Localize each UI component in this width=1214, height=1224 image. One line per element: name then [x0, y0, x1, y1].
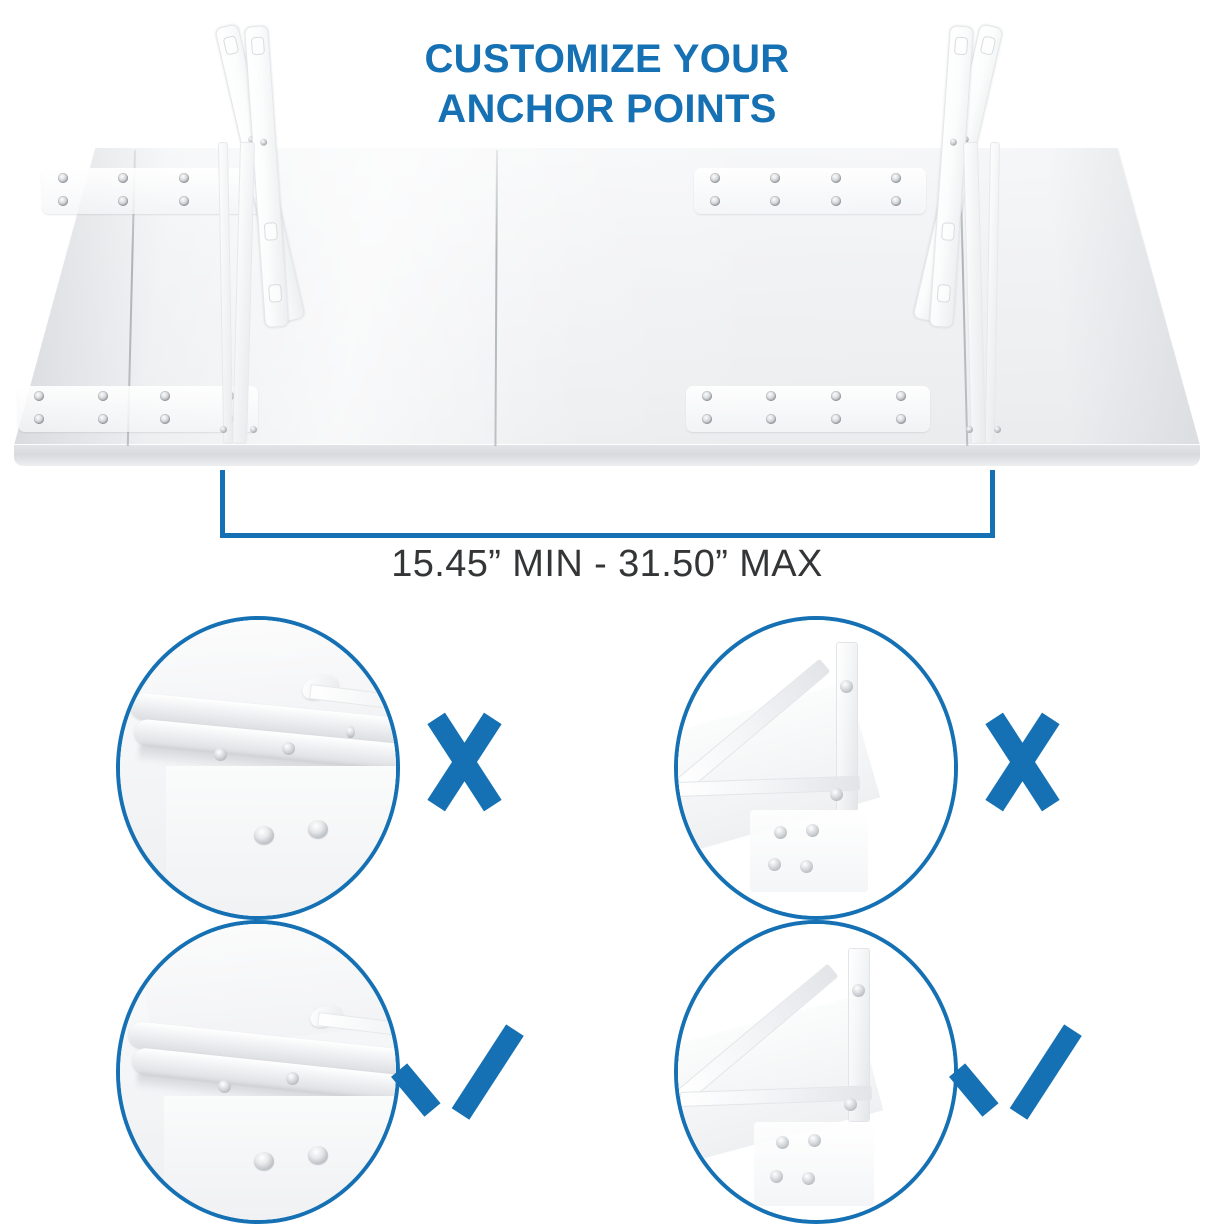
- left-folding-bracket: [206, 22, 316, 462]
- verdict-bottom-left: [410, 1016, 530, 1126]
- check-icon: [978, 1018, 1076, 1110]
- circle-frame-top-right: [674, 616, 958, 920]
- screw-hole: [118, 196, 128, 206]
- scene-plate-bolt-4: [802, 1172, 815, 1185]
- right-bracket-rail-inner: [963, 142, 986, 444]
- scene-plate-bolt-3: [768, 858, 781, 871]
- screw-hole: [702, 414, 712, 424]
- right-bracket-rail-outer: [985, 142, 1000, 444]
- scene-screw-hole-left: [254, 826, 274, 844]
- screw-hole: [766, 414, 776, 424]
- screw-hole: [770, 173, 780, 183]
- shelf-board: [14, 148, 1200, 466]
- scene-screw-hole-right: [308, 820, 328, 838]
- scene-lip-bolt-b: [282, 742, 295, 755]
- left-bracket-rail-outer: [218, 142, 233, 444]
- shelf-edge-photo-incorrect: [116, 616, 400, 920]
- scene-screw-hole-right: [308, 1146, 328, 1164]
- comparison-cell-bottom-left: [110, 920, 610, 1220]
- hero-product-image: [0, 0, 1214, 600]
- screw-hole: [702, 391, 712, 401]
- right-folding-bracket: [900, 22, 1010, 462]
- screw-hole: [710, 173, 720, 183]
- right-bracket-foot-bolt-a: [966, 426, 973, 433]
- mounting-plate-upper-right: [694, 168, 926, 214]
- comparison-grid: [0, 608, 1214, 1214]
- scene-lower-wall: [166, 766, 400, 920]
- comparison-cell-bottom-right: [668, 920, 1168, 1220]
- screw-hole: [98, 414, 108, 424]
- screw-hole: [160, 414, 170, 424]
- scene-plate-bolt-2: [808, 1134, 821, 1147]
- bracket-mount-photo-incorrect: [674, 616, 958, 920]
- screw-hole: [98, 391, 108, 401]
- left-bracket-inner-slot-mid: [264, 222, 278, 241]
- scene-bracket-bolt-bottom: [844, 1098, 857, 1111]
- scene-bracket-bolt-bottom: [830, 788, 843, 801]
- mounting-plate-lower-right: [686, 386, 930, 432]
- screw-hole: [831, 196, 841, 206]
- scene-bracket-bolt-top: [852, 984, 865, 997]
- circle-frame-bottom-left: [116, 920, 400, 1224]
- screw-hole: [710, 196, 720, 206]
- shelf-right-bevel: [1010, 148, 1200, 445]
- screw-hole: [179, 173, 189, 183]
- verdict-top-left: [410, 712, 530, 822]
- screw-hole: [831, 414, 841, 424]
- bracket-mount-photo-correct: [674, 920, 958, 1224]
- comparison-cell-top-right: [668, 616, 1168, 916]
- right-bracket-inner-slot-top: [954, 37, 968, 56]
- screw-hole: [831, 173, 841, 183]
- screw-hole: [179, 196, 189, 206]
- screw-hole: [770, 196, 780, 206]
- scene-bracket-bolt-top: [840, 680, 853, 693]
- x-icon: [982, 716, 1066, 808]
- right-bracket-foot-bolt-b: [994, 426, 1001, 433]
- left-bracket-inner-slot-bottom: [268, 284, 282, 303]
- circle-frame-bottom-right: [674, 920, 958, 1224]
- scene-plate-bolt-3: [770, 1170, 783, 1183]
- right-bracket-inner-slot-bottom: [937, 284, 951, 303]
- screw-hole: [34, 414, 44, 424]
- scene-plate-bolt-2: [806, 824, 819, 837]
- right-bracket-slot-top: [980, 35, 997, 55]
- left-bracket-inner-pivot: [260, 139, 267, 146]
- verdict-top-right: [968, 712, 1088, 822]
- screw-hole: [831, 391, 841, 401]
- screw-hole: [34, 391, 44, 401]
- left-bracket-inner-slot-top: [251, 36, 265, 55]
- right-bracket-inner-slot-mid: [941, 222, 955, 241]
- left-bracket-rail-inner: [232, 142, 255, 444]
- circle-frame-top-left: [116, 616, 400, 920]
- comparison-cell-top-left: [110, 616, 610, 916]
- scene-lower-wall: [164, 1096, 400, 1224]
- left-bracket-foot-bolt-a: [220, 426, 227, 433]
- scene-screw-hole-left: [254, 1152, 274, 1170]
- screw-hole: [58, 196, 68, 206]
- scene-lip-bolt-b: [286, 1072, 299, 1085]
- screw-hole: [160, 391, 170, 401]
- scene-lip-bolt-c: [346, 726, 355, 738]
- scene-lip-bolt-a: [218, 1080, 231, 1093]
- screw-hole: [766, 391, 776, 401]
- scene-wall-plate: [750, 810, 868, 892]
- shelf-edge-photo-correct: [116, 920, 400, 1224]
- scene-plate-bolt-4: [800, 860, 813, 873]
- scene-plate-bolt-1: [774, 826, 787, 839]
- x-icon: [424, 716, 508, 808]
- left-bracket-slot-top: [223, 35, 240, 55]
- verdict-bottom-right: [968, 1016, 1088, 1126]
- left-bracket-foot-bolt-b: [250, 426, 257, 433]
- scene-plate-bolt-1: [776, 1136, 789, 1149]
- screw-hole: [118, 173, 128, 183]
- scene-lip-bolt-a: [214, 748, 227, 761]
- right-bracket-inner-pivot: [950, 138, 957, 145]
- screw-hole: [58, 173, 68, 183]
- shelf-front-edge: [14, 445, 1200, 466]
- check-icon: [420, 1018, 518, 1110]
